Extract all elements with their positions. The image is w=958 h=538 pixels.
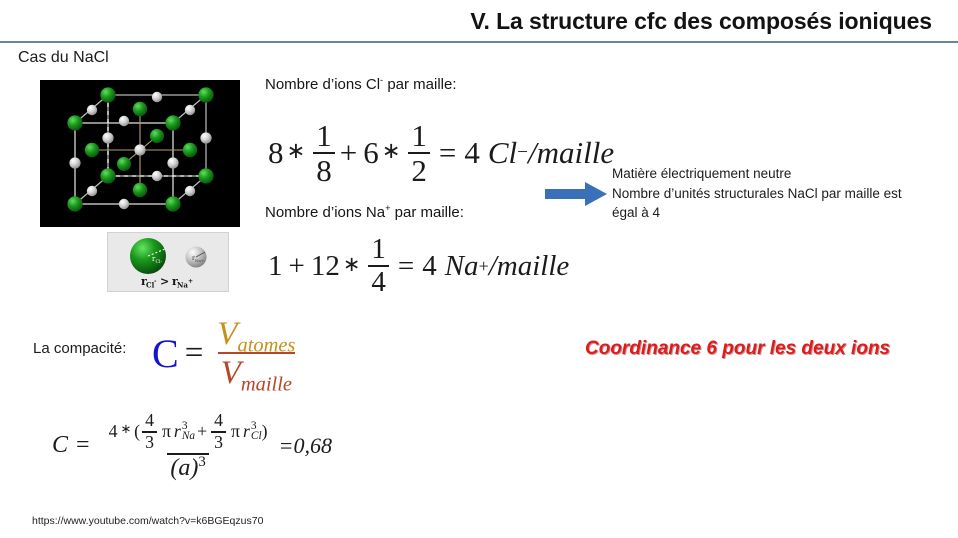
na-eq-term-b: 12 bbox=[311, 250, 340, 283]
compacity-label: La compacité: bbox=[33, 340, 126, 357]
final-eq-fraction: 4 ∗ ( 4 3 π r 3 Na + 4 3 bbox=[106, 412, 271, 480]
cl-eq-fraction-2: 1 2 bbox=[408, 120, 430, 186]
cl-eq-unit-species: Cl bbox=[480, 135, 517, 171]
final-eq-inner-fraction-1-denominator: 3 bbox=[142, 431, 157, 452]
right-arrow-icon bbox=[545, 182, 607, 206]
cl-eq-term-b: 6 bbox=[357, 135, 379, 171]
final-eq-numerator: 4 ∗ ( 4 3 π r 3 Na + 4 3 bbox=[106, 412, 271, 453]
neutrality-note-line-3: égal à 4 bbox=[612, 203, 952, 223]
svg-text:+: + bbox=[188, 278, 193, 285]
source-url-link[interactable]: https://www.youtube.com/watch?v=k6BGEqzu… bbox=[32, 515, 263, 527]
final-eq-pi-2: π bbox=[228, 423, 243, 441]
chloride-count-label-tail: par maille: bbox=[383, 76, 456, 93]
na-eq-equals: = bbox=[394, 250, 414, 283]
na-eq-plus: + bbox=[283, 250, 311, 283]
final-eq-pi-1: π bbox=[159, 423, 174, 441]
cl-eq-equals: = bbox=[435, 135, 456, 171]
na-eq-unit-species: Na bbox=[437, 250, 479, 283]
page-title: V. La structure cfc des composés ionique… bbox=[470, 8, 932, 35]
coordination-callout: Coordinance 6 pour les deux ions bbox=[585, 338, 890, 360]
final-eq-ast: ∗ bbox=[117, 423, 134, 436]
final-eq-denominator: (a)3 bbox=[167, 453, 208, 480]
na-eq-fraction-numerator: 1 bbox=[368, 235, 389, 265]
cl-eq-operator-2: ∗ bbox=[379, 138, 404, 164]
final-eq-radius-1: r bbox=[174, 423, 181, 441]
na-eq-operator: ∗ bbox=[340, 252, 364, 277]
final-eq-symbol: C bbox=[52, 432, 68, 459]
sodium-count-equation: 1 + 12 ∗ 1 4 = 4 Na+/maille bbox=[268, 235, 569, 297]
cl-eq-term-a: 8 bbox=[268, 135, 284, 171]
neutrality-note: Matière électriquement neutre Nombre d’u… bbox=[612, 164, 952, 223]
svg-text:Na: Na bbox=[177, 281, 188, 290]
final-eq-radius-1-subscript: Na bbox=[182, 432, 195, 442]
final-eq-close-paren: ) bbox=[262, 423, 268, 441]
compacity-equals: = bbox=[179, 335, 210, 372]
na-eq-fraction: 1 4 bbox=[368, 235, 389, 297]
chloride-count-label-text: Nombre d’ions Cl bbox=[265, 76, 380, 93]
cl-eq-fraction-1-numerator: 1 bbox=[313, 120, 335, 152]
cl-eq-plus: + bbox=[340, 135, 357, 171]
svg-text:>: > bbox=[160, 275, 169, 288]
final-eq-open-paren: ( bbox=[134, 423, 140, 441]
nacl-lattice-image bbox=[40, 80, 240, 227]
chloride-count-equation: 8 ∗ 1 8 + 6 ∗ 1 2 = 4 Cl−/maille bbox=[268, 120, 614, 186]
final-eq-result-equals: = bbox=[279, 433, 294, 459]
final-compacity-equation: C = 4 ∗ ( 4 3 π r 3 Na + bbox=[52, 412, 332, 480]
na-eq-result: 4 bbox=[414, 250, 437, 283]
compacity-denominator-subscript: maille bbox=[241, 374, 292, 396]
sodium-count-label: Nombre d’ions Na+ par maille: bbox=[265, 204, 464, 221]
sodium-count-label-text: Nombre d’ions Na bbox=[265, 204, 385, 221]
cl-eq-fraction-1-denominator: 8 bbox=[313, 152, 335, 186]
final-eq-inner-fraction-1: 4 3 bbox=[142, 412, 157, 452]
neutrality-note-line-2: Nombre d’unités structurales NaCl par ma… bbox=[612, 184, 952, 204]
compacity-equation: C = Vatomes Vmaille bbox=[152, 316, 303, 390]
na-eq-unit-tail: /maille bbox=[489, 250, 570, 283]
final-eq-radius-2-subscript: Cl bbox=[251, 432, 262, 442]
compacity-fraction: Vatomes Vmaille bbox=[214, 316, 298, 390]
final-eq-inner-fraction-2-numerator: 4 bbox=[211, 412, 226, 431]
compacity-symbol: C bbox=[152, 330, 179, 377]
final-eq-result-value: 0,68 bbox=[293, 433, 332, 459]
final-eq-plus: + bbox=[195, 423, 209, 441]
final-eq-inner-fraction-1-numerator: 4 bbox=[142, 412, 157, 431]
final-eq-denominator-base: (a) bbox=[170, 455, 198, 481]
final-eq-radius-2: r bbox=[243, 423, 250, 441]
na-eq-fraction-denominator: 4 bbox=[368, 265, 389, 297]
cl-eq-fraction-2-numerator: 1 bbox=[408, 120, 430, 152]
neutrality-note-line-1: Matière électriquement neutre bbox=[612, 164, 952, 184]
cl-eq-operator-1: ∗ bbox=[284, 138, 309, 164]
compacity-denominator-symbol: V bbox=[221, 355, 241, 391]
cl-eq-unit-tail: /maille bbox=[528, 135, 614, 171]
header-divider bbox=[0, 41, 958, 43]
sodium-count-label-tail: par maille: bbox=[391, 204, 464, 221]
ion-radius-comparison-image: r Cl- r Na+ r Cl - > r Na + bbox=[107, 232, 229, 292]
compacity-denominator: Vmaille bbox=[218, 352, 295, 390]
final-eq-factor: 4 bbox=[109, 423, 118, 441]
na-eq-term-a: 1 bbox=[268, 250, 283, 283]
compacity-numerator-symbol: V bbox=[217, 316, 237, 352]
final-eq-denominator-superscript: 3 bbox=[198, 454, 205, 470]
cl-eq-result: 4 bbox=[456, 135, 480, 171]
chloride-count-label: Nombre d’ions Cl- par maille: bbox=[265, 76, 457, 93]
final-eq-equals: = bbox=[68, 432, 98, 459]
compacity-numerator: Vatomes bbox=[214, 316, 298, 352]
cl-eq-fraction-2-denominator: 2 bbox=[408, 152, 430, 186]
final-eq-inner-fraction-2-denominator: 3 bbox=[211, 431, 226, 452]
final-eq-inner-fraction-2: 4 3 bbox=[211, 412, 226, 452]
svg-text:Na+: Na+ bbox=[195, 258, 204, 263]
cl-eq-fraction-1: 1 8 bbox=[313, 120, 335, 186]
case-subtitle: Cas du NaCl bbox=[18, 49, 109, 67]
svg-text:Cl-: Cl- bbox=[156, 259, 163, 265]
